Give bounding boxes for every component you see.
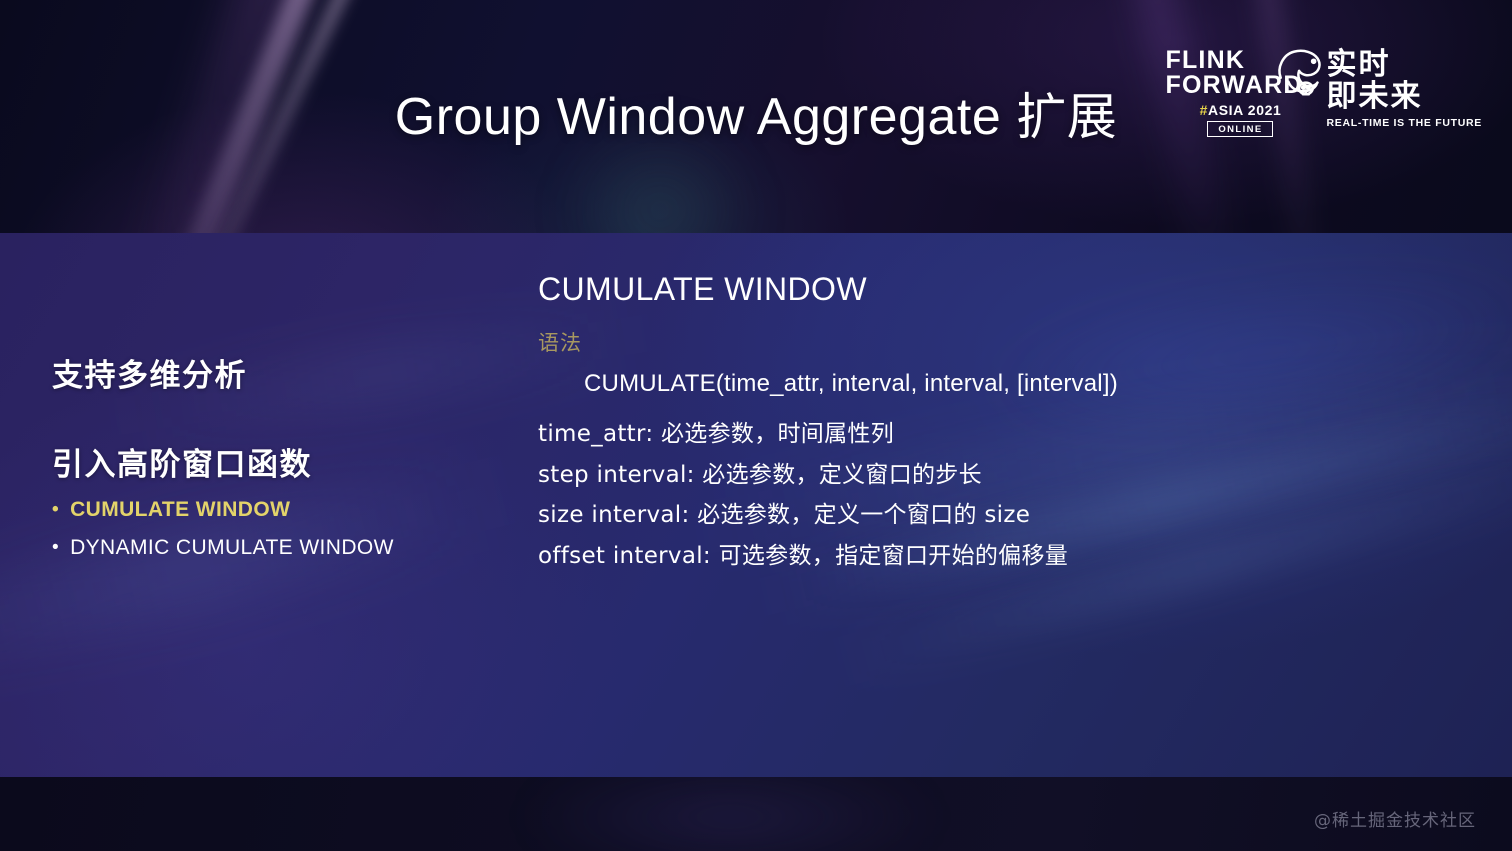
list-item-label: DYNAMIC CUMULATE WINDOW <box>70 536 394 560</box>
list-item-label: CUMULATE WINDOW <box>70 498 290 522</box>
squirrel-icon <box>1271 39 1333 101</box>
left-heading-window-fn: 引入高阶窗口函数 <box>52 447 482 484</box>
syntax-label: 语法 <box>538 327 1358 357</box>
logo-cn-line2: 即未来 <box>1326 81 1482 113</box>
logo-tagline: REAL-TIME IS THE FUTURE <box>1326 117 1482 129</box>
logo-edition: #ASIA 2021 <box>1165 102 1315 118</box>
slide-root: Group Window Aggregate 扩展 FLINK FORWARD … <box>0 0 1512 851</box>
logo-edition-label: ASIA 2021 <box>1208 102 1281 118</box>
logo-online-badge: ONLINE <box>1207 121 1273 137</box>
list-item-dynamic-cumulate-window[interactable]: • DYNAMIC CUMULATE WINDOW <box>52 536 482 560</box>
left-column: 支持多维分析 引入高阶窗口函数 • CUMULATE WINDOW • DYNA… <box>52 358 482 574</box>
watermark: @稀土掘金技术社区 <box>1314 806 1476 831</box>
hash-icon: # <box>1200 102 1208 118</box>
parameter-list: time_attr: 必选参数，时间属性列 step interval: 必选参… <box>538 414 1358 576</box>
page-title-en: Group Window Aggregate <box>395 88 1001 146</box>
flink-forward-logo: FLINK FORWARD #ASIA 2021 ONLINE 实时 即未来 R… <box>1165 45 1482 145</box>
bullet-dot-icon: • <box>52 500 59 519</box>
flink-forward-wordmark: FLINK FORWARD #ASIA 2021 ONLINE <box>1165 45 1315 137</box>
left-bullet-list: • CUMULATE WINDOW • DYNAMIC CUMULATE WIN… <box>52 498 482 560</box>
list-item-cumulate-window[interactable]: • CUMULATE WINDOW <box>52 498 482 522</box>
footer-band <box>0 777 1512 851</box>
page-title-cn: 扩展 <box>1016 89 1117 145</box>
footer-glow <box>520 777 940 851</box>
parameter-item-size-interval: size interval: 必选参数，定义一个窗口的 size <box>538 495 1358 535</box>
parameter-item-time-attr: time_attr: 必选参数，时间属性列 <box>538 414 1358 454</box>
function-signature: CUMULATE(time_attr, interval, interval, … <box>584 370 1358 398</box>
left-heading-multidim: 支持多维分析 <box>52 358 482 395</box>
main-content: CUMULATE WINDOW 语法 CUMULATE(time_attr, i… <box>538 272 1358 576</box>
logo-chinese-block: 实时 即未来 REAL-TIME IS THE FUTURE <box>1326 45 1482 129</box>
parameter-item-step-interval: step interval: 必选参数，定义窗口的步长 <box>538 455 1358 495</box>
logo-cn-line1: 实时 <box>1326 49 1482 81</box>
bullet-dot-icon: • <box>52 538 59 557</box>
section-title: CUMULATE WINDOW <box>538 272 1358 307</box>
parameter-item-offset-interval: offset interval: 可选参数，指定窗口开始的偏移量 <box>538 536 1358 576</box>
